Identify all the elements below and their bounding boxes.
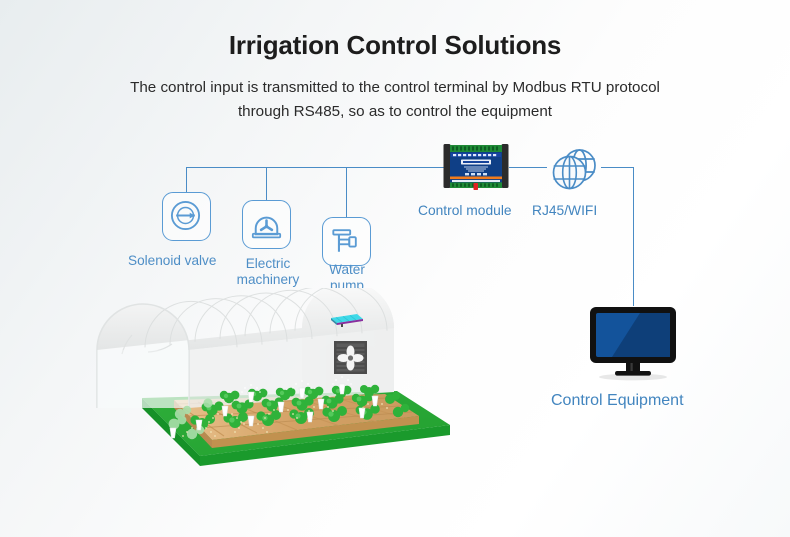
- bus-line-horizontal: [186, 167, 444, 168]
- solenoid-valve-label: Solenoid valve: [128, 253, 216, 269]
- diagram-canvas: Irrigation Control Solutions The control…: [0, 0, 790, 537]
- network-node[interactable]: [547, 144, 601, 198]
- wire-to-water-pump: [346, 167, 347, 217]
- greenhouse-illustration: [52, 288, 452, 480]
- electric-motor-icon: [243, 201, 290, 248]
- globe-network-icon: [547, 144, 601, 198]
- page-title: Irrigation Control Solutions: [0, 30, 790, 61]
- electric-machinery-label: Electric machinery: [228, 256, 308, 288]
- greenhouse-scene-icon: [52, 288, 452, 480]
- desktop-monitor-icon: [588, 305, 678, 383]
- electric-machinery-label-line-1: Electric: [246, 256, 291, 271]
- control-equipment-node[interactable]: [588, 305, 678, 383]
- control-module-node[interactable]: [443, 143, 509, 190]
- water-pump-label-line-1: Water: [329, 262, 365, 277]
- solenoid-valve-node[interactable]: [162, 192, 211, 241]
- control-equipment-label: Control Equipment: [551, 393, 684, 409]
- water-pump-icon: [323, 218, 368, 263]
- exhaust-fan-icon: [334, 341, 367, 374]
- wire-to-solenoid-valve: [186, 167, 187, 192]
- wire-to-electric-machinery: [266, 167, 267, 200]
- water-pump-node[interactable]: [322, 217, 371, 266]
- electric-machinery-label-line-2: machinery: [237, 272, 300, 287]
- rj45-wifi-label: RJ45/WIFI: [532, 203, 597, 219]
- page-subtitle: The control input is transmitted to the …: [50, 76, 740, 124]
- subtitle-line-1: The control input is transmitted to the …: [130, 79, 660, 96]
- control-module-label: Control module: [418, 203, 512, 219]
- electric-machinery-node[interactable]: [242, 200, 291, 249]
- wire-network-to-riser: [601, 167, 634, 168]
- wire-riser-to-monitor: [633, 167, 634, 306]
- control-module-icon: [443, 143, 509, 190]
- subtitle-line-2: through RS485, so as to control the equi…: [50, 100, 740, 124]
- valve-icon: [163, 193, 208, 238]
- wire-module-to-network: [509, 167, 547, 168]
